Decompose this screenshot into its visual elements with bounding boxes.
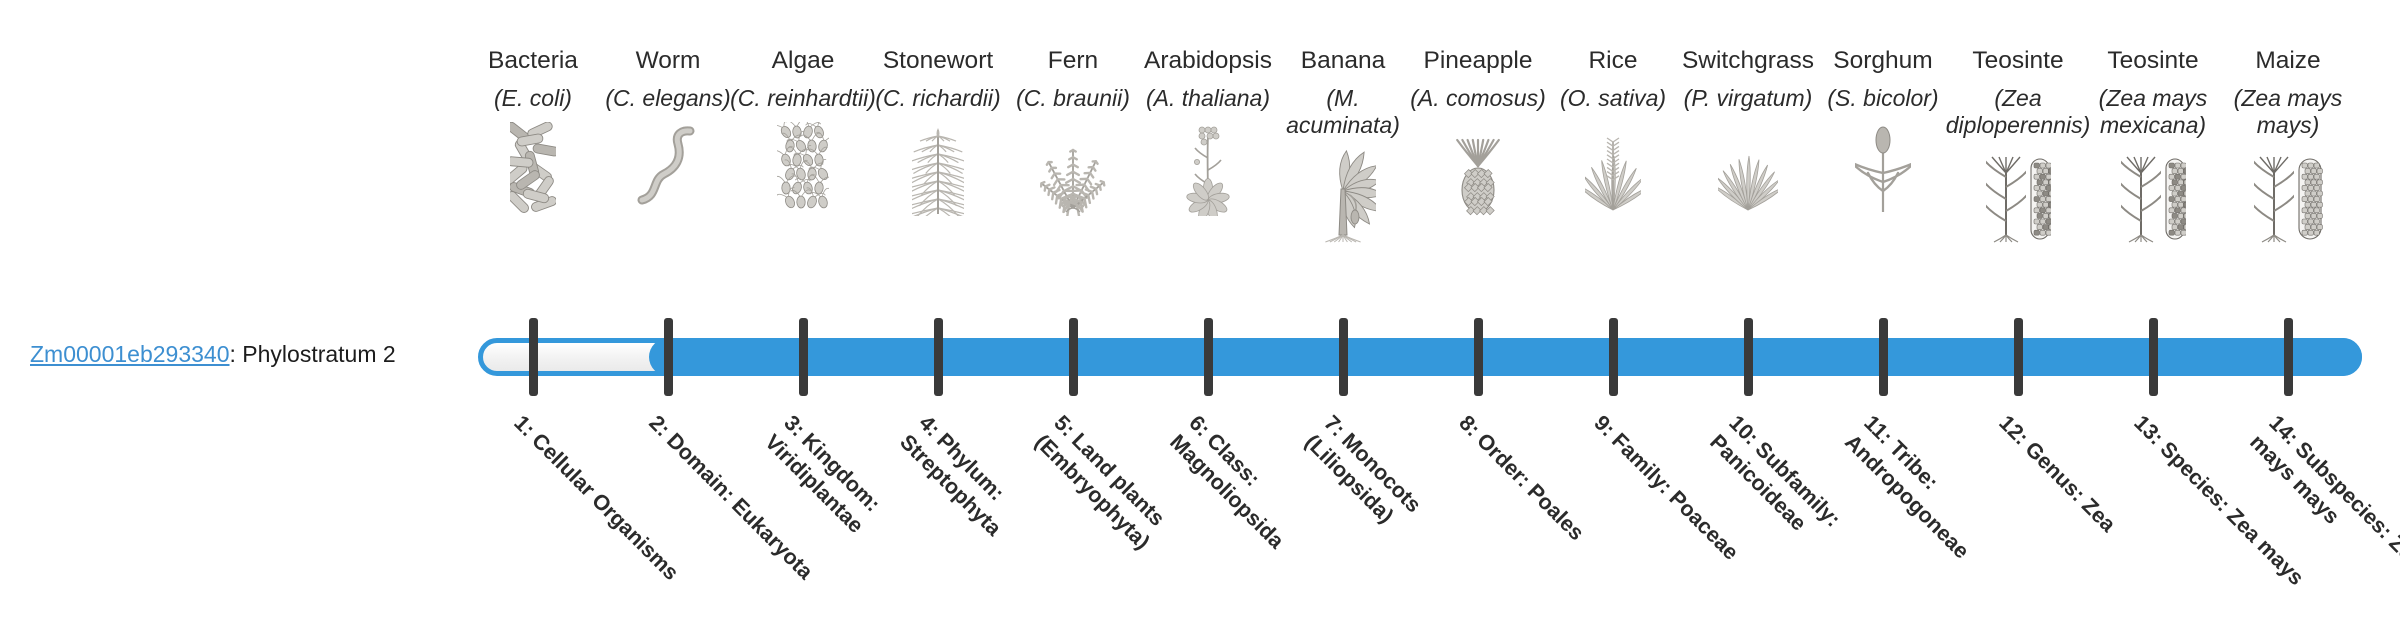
strata-label-row: 1: Cellular Organisms2: Domain: Eukaryot… bbox=[0, 0, 2400, 580]
stratum-label: 14: Subspecies: Zea mays mays bbox=[2244, 410, 2400, 618]
phylostratum-figure: Bacteria(E. coli)Worm(C. elegans)Algae(C… bbox=[0, 0, 2400, 580]
